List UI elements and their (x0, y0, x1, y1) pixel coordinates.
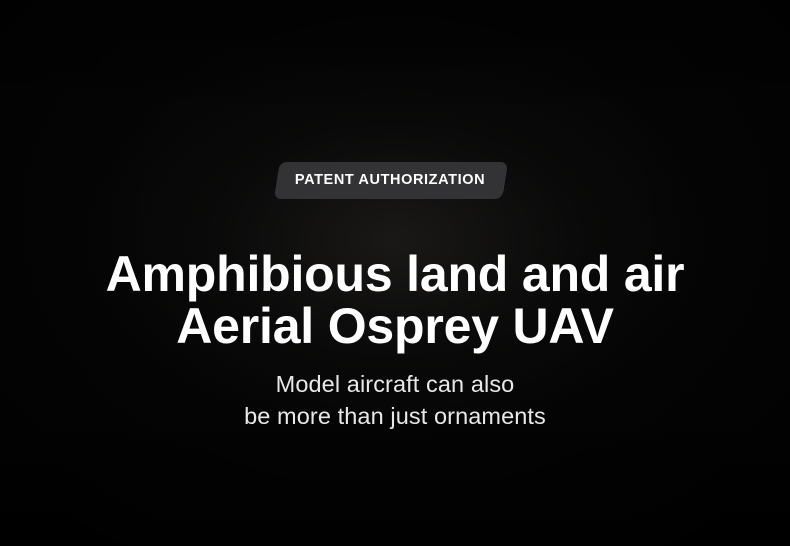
page-title-line-2: Aerial Osprey UAV (0, 300, 790, 352)
page-title: Amphibious land and air Aerial Osprey UA… (0, 248, 790, 352)
page-subtitle-line-1: Model aircraft can also (0, 368, 790, 400)
badge-body: PATENT AUTHORIZATION (274, 162, 508, 199)
patent-authorization-badge: PATENT AUTHORIZATION (277, 162, 505, 199)
page-subtitle-line-2: be more than just ornaments (0, 400, 790, 432)
page-subtitle: Model aircraft can also be more than jus… (0, 368, 790, 432)
badge-container: PATENT AUTHORIZATION (0, 162, 790, 202)
badge-label: PATENT AUTHORIZATION (295, 173, 485, 188)
page-title-line-1: Amphibious land and air (0, 248, 790, 300)
hero-banner: PATENT AUTHORIZATION Amphibious land and… (0, 0, 790, 546)
